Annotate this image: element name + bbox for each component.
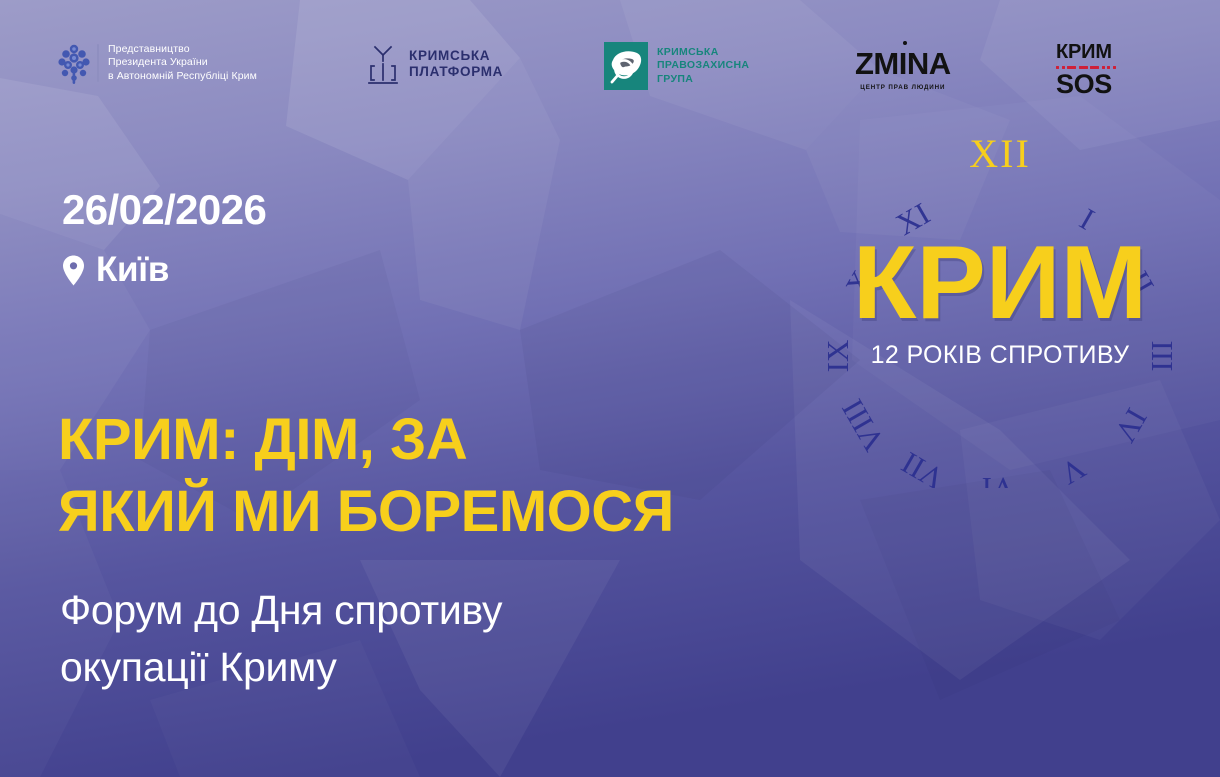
chrg-line-1: КРИМСЬКА [657,46,719,58]
zmina-dot-icon [903,41,907,45]
numeral-iv: IV [1107,402,1154,448]
numeral-v: V [1054,450,1091,488]
krym-sos-line-1: КРИМ [1056,42,1116,62]
presidency-line-1: Представництво [108,43,190,55]
logo-divider [97,44,99,82]
zmina-word-text: ZMINA [855,46,951,81]
page-subtitle: Форум до Дня спротиву окупації Криму [60,582,780,696]
logo-crimean-platform-text: КРИМСЬКА ПЛАТФОРМА [409,48,503,80]
platform-line-1: КРИМСЬКА [409,48,490,63]
zmina-subtitle: ЦЕНТР ПРАВ ЛЮДИНИ [855,84,951,91]
event-date: 26/02/2026 [62,186,266,234]
logo-chrg-text: КРИМСЬКА ПРАВОЗАХИСНА ГРУПА [657,46,749,87]
event-location: Київ [62,250,169,290]
partner-logo-bar: Представництво Президента України в Авто… [0,0,1220,130]
crimean-platform-tamga-icon [365,42,401,86]
magnifier-over-crimea-icon [604,42,648,90]
emblem-years-text: 12 РОКІВ СПРОТИВУ [800,340,1200,370]
presidency-line-2: Президента України [108,56,208,68]
krym-sos-line-2: SOS [1056,71,1116,98]
numeral-vii: VII [895,445,950,488]
emblem-title: КРИМ [800,228,1200,338]
logo-crimean-human-rights-group[interactable]: КРИМСЬКА ПРАВОЗАХИСНА ГРУПА [604,42,749,90]
logo-presidency-text: Представництво Президента України в Авто… [108,43,257,84]
numeral-viii: VIII [834,393,891,457]
event-location-text: Київ [96,250,169,290]
map-pin-icon [62,255,85,286]
ukraine-presidency-emblem-icon [55,40,93,86]
chrg-line-3: ГРУПА [657,73,693,85]
chrg-line-2: ПРАВОЗАХИСНА [657,59,749,71]
logo-zmina[interactable]: ZMINA ЦЕНТР ПРАВ ЛЮДИНИ [855,48,951,91]
subtitle-line-2: окупації Криму [60,639,780,696]
subtitle-line-1: Форум до Дня спротиву [60,582,780,639]
logo-crimean-platform[interactable]: КРИМСЬКА ПЛАТФОРМА [365,42,503,86]
platform-line-2: ПЛАТФОРМА [409,64,503,79]
clock-emblem: XI X IX VIII VII VI V IV III II I XII КР… [800,128,1200,488]
zmina-wordmark-icon: ZMINA [855,48,951,79]
numeral-xii: XII [800,132,1200,176]
poster-canvas: Представництво Президента України в Авто… [0,0,1220,777]
logo-presidency[interactable]: Представництво Президента України в Авто… [55,40,257,86]
numeral-vi: VI [982,471,1015,488]
logo-krym-sos[interactable]: КРИМ SOS [1056,42,1116,98]
presidency-line-3: в Автономній Республіці Крим [108,70,257,82]
